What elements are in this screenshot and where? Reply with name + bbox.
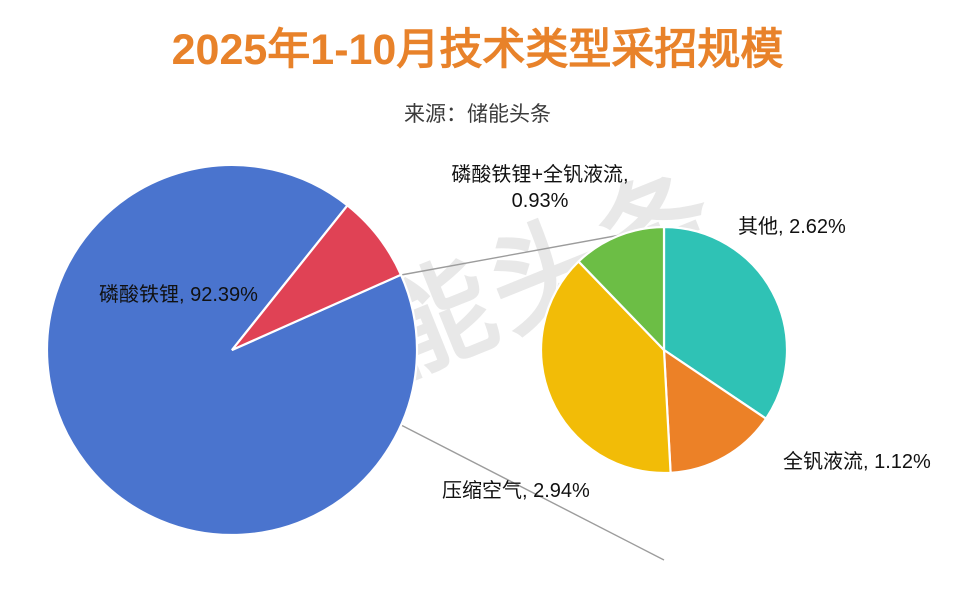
secondary-pie xyxy=(541,227,787,473)
label-vrfb: 全钒液流, 1.12% xyxy=(783,450,931,476)
pie-chart-figure: 2025年1-10月技术类型采招规模 来源：储能头条 储能头条 xyxy=(0,0,955,612)
label-other: 其他, 2.62% xyxy=(738,215,846,241)
label-lfp: 磷酸铁锂, 92.39% xyxy=(99,283,258,309)
main-pie xyxy=(47,165,417,535)
label-lfp-vrfb: 磷酸铁锂+全钒液流, 0.93% xyxy=(440,163,640,214)
label-caes: 压缩空气, 2.94% xyxy=(442,479,590,505)
